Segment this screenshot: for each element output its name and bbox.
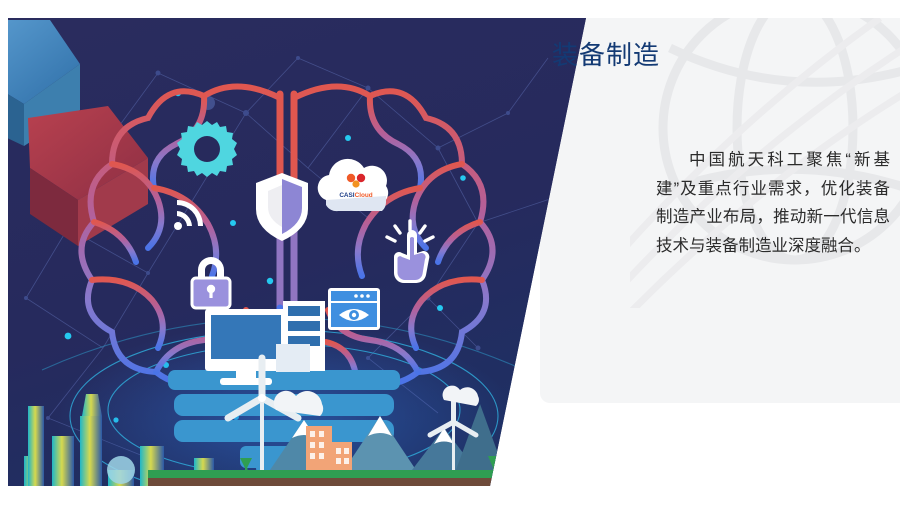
body-paragraph: 中国航天科工聚焦“新基建”及重点行业需求，优化装备制造产业布局，推动新一代信息技… — [656, 146, 890, 260]
slide-canvas: 装备制造 中国航天科工聚焦“新基建”及重点行业需求，优化装备制造产业布局，推动新… — [0, 0, 900, 510]
eye-browser-icon — [328, 288, 380, 330]
page-title: 装备制造 — [552, 38, 660, 72]
illustration-panel: CASICloud — [8, 18, 588, 486]
illustration-graphic: CASICloud — [8, 18, 588, 486]
svg-text:CASICloud: CASICloud — [339, 192, 372, 199]
